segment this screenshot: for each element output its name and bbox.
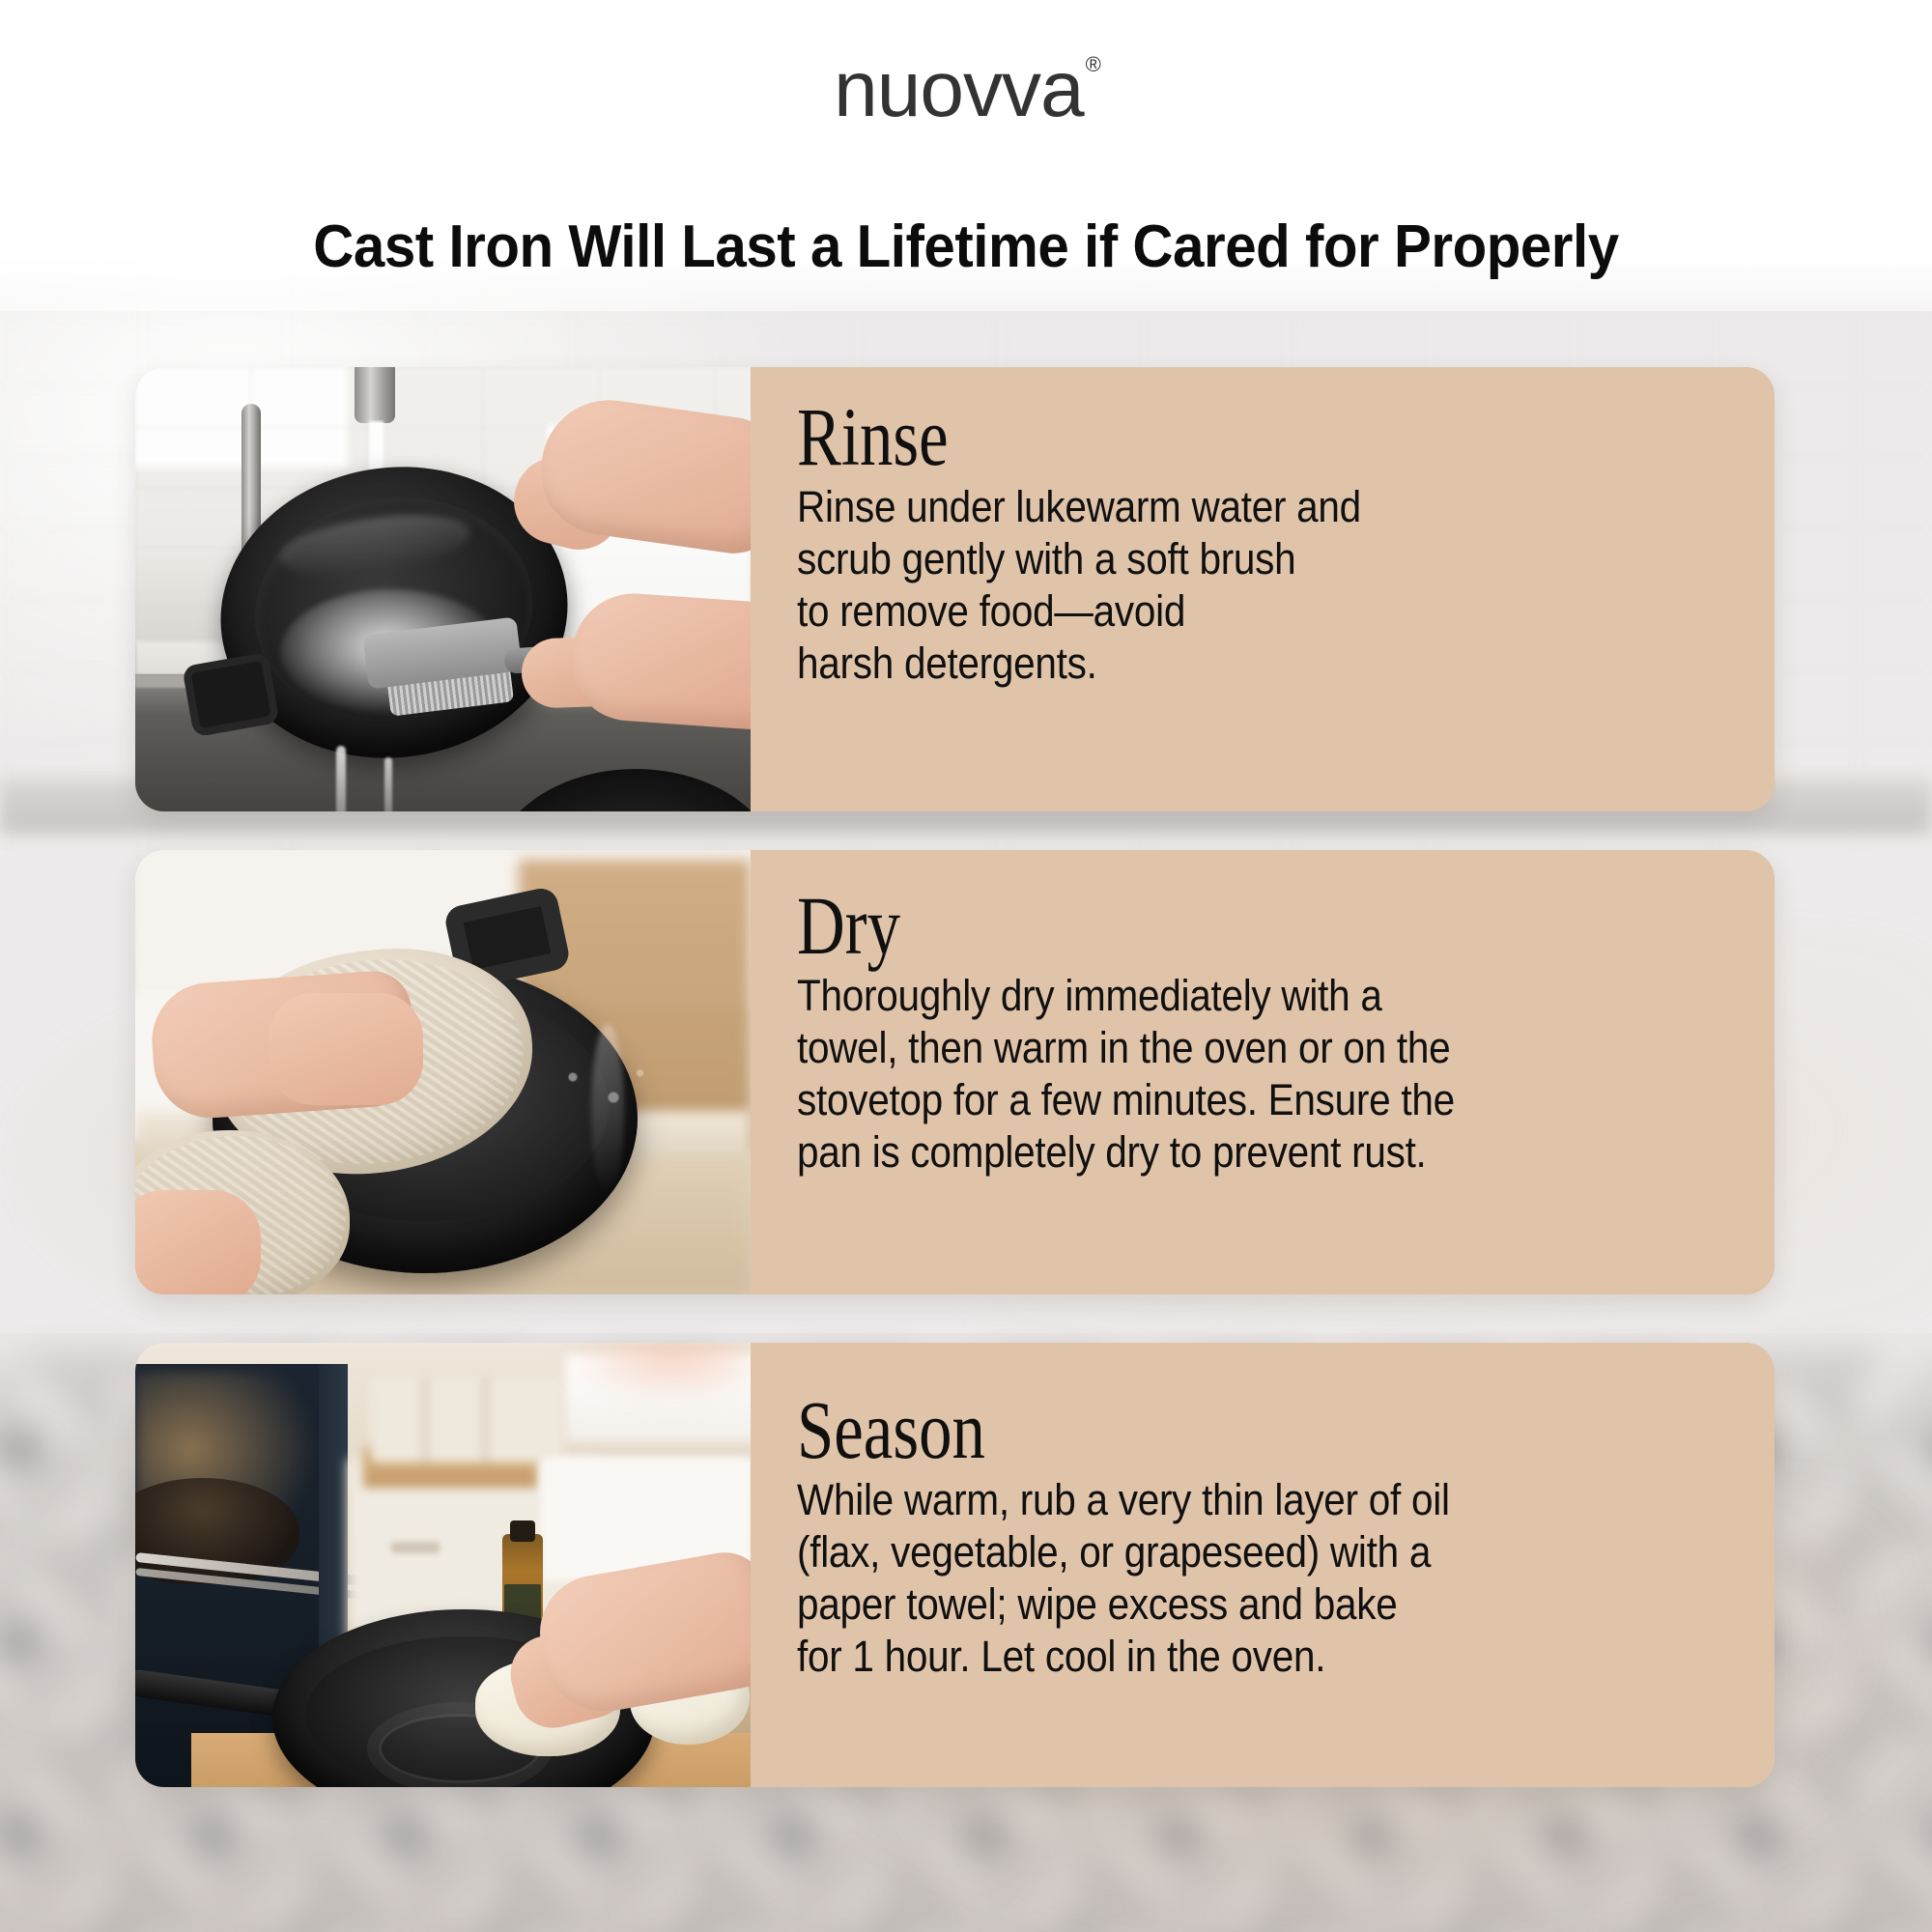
photo-water-drip — [336, 746, 346, 811]
step-photo-rinse — [135, 367, 751, 811]
brand-logo: nuovva® — [0, 50, 1932, 129]
logo-wordmark: nuovva® — [834, 50, 1098, 129]
step-description: Thoroughly dry immediately with a towel,… — [797, 970, 1638, 1179]
photo-hand-second — [135, 1190, 261, 1294]
step-body-season: Season While warm, rub a very thin layer… — [751, 1343, 1775, 1787]
photo-canisters — [371, 1378, 564, 1463]
step-body-dry: Dry Thoroughly dry immediately with a to… — [751, 850, 1775, 1294]
photo-dry-scene — [135, 850, 751, 1294]
photo-hand-fingers — [269, 993, 423, 1105]
step-card-rinse: Rinse Rinse under lukewarm water and scr… — [135, 367, 1775, 811]
photo-faucet-spout — [355, 367, 395, 423]
photo-rinse-scene — [135, 367, 751, 811]
step-card-season: Season While warm, rub a very thin layer… — [135, 1343, 1775, 1787]
step-description: While warm, rub a very thin layer of oil… — [797, 1474, 1638, 1683]
photo-oil-bottle-cap — [510, 1520, 535, 1542]
photo-water-droplets — [550, 1057, 666, 1124]
step-title: Season — [797, 1389, 1545, 1470]
step-photo-season — [135, 1343, 751, 1787]
page-title: Cast Iron Will Last a Lifetime if Cared … — [58, 214, 1874, 280]
step-title: Rinse — [797, 396, 1545, 477]
step-body-rinse: Rinse Rinse under lukewarm water and scr… — [751, 367, 1775, 811]
step-title: Dry — [797, 885, 1545, 966]
photo-cabinet-handle — [390, 1542, 440, 1553]
photo-skillet-helper-handle — [182, 652, 279, 738]
step-description: Rinse under lukewarm water and scrub gen… — [797, 481, 1638, 690]
photo-warm-light — [557, 1343, 751, 1401]
logo-text: nuovva — [834, 45, 1083, 133]
photo-season-scene — [135, 1343, 751, 1787]
infographic-page: nuovva® Cast Iron Will Last a Lifetime i… — [0, 0, 1932, 1932]
step-card-dry: Dry Thoroughly dry immediately with a to… — [135, 850, 1775, 1294]
step-photo-dry — [135, 850, 751, 1294]
registered-trademark-icon: ® — [1086, 52, 1100, 76]
photo-water-drip-2 — [384, 757, 392, 811]
